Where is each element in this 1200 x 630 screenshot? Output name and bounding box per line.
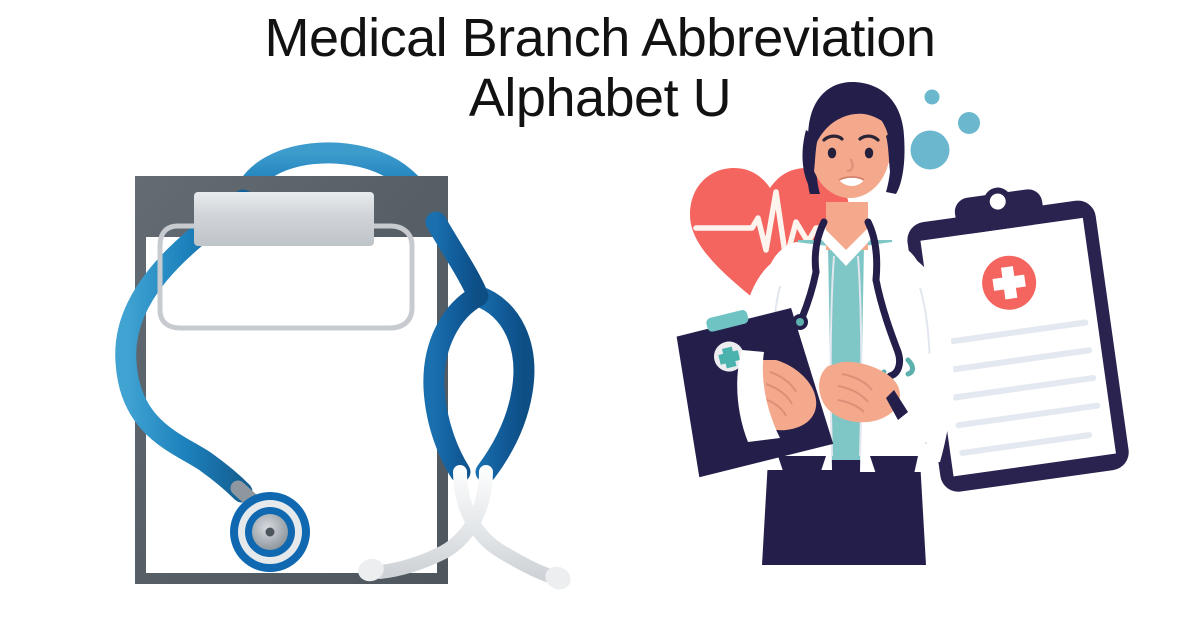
stethoscope-chestpiece	[230, 492, 310, 572]
doctor-figure	[663, 82, 955, 565]
dot-large-icon	[911, 131, 950, 170]
doctor-with-clipboard-illustration	[620, 60, 1180, 580]
stethoscope-chestpiece-icon	[796, 318, 804, 326]
coat-pocket-right	[870, 456, 918, 474]
coat-pocket-left	[778, 456, 826, 474]
image-canvas: Medical Branch Abbreviation Alphabet U	[0, 0, 1200, 630]
doctor-skirt	[762, 460, 926, 565]
clipboard-with-stethoscope-illustration	[60, 100, 580, 600]
clipboard-clip-bar	[194, 192, 374, 246]
page-title: Medical Branch Abbreviation Alphabet U	[0, 8, 1200, 129]
stethoscope-earpiece-right	[542, 563, 575, 594]
